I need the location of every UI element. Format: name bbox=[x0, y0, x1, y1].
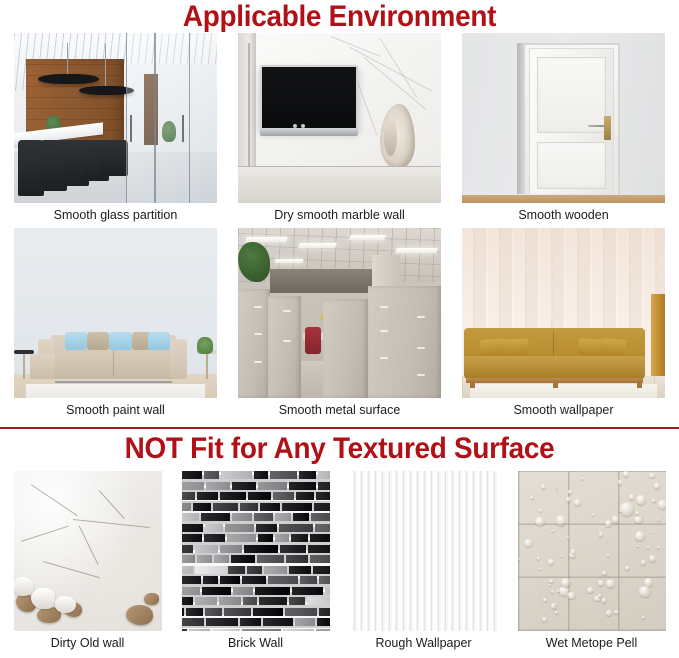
tile-rough-wallpaper: Rough Wallpaper bbox=[350, 471, 498, 656]
tile-caption: Dirty Old wall bbox=[51, 631, 125, 656]
photo-peeling-plaster bbox=[14, 471, 162, 631]
tile-dirty-old-wall: Dirty Old wall bbox=[14, 471, 162, 656]
not-fit-grid: Dirty Old wall Brick Wall Rough Wallpape… bbox=[0, 471, 679, 656]
tile-caption: Smooth wallpaper bbox=[513, 398, 613, 423]
tile-brick-wall: Brick Wall bbox=[182, 471, 330, 656]
photo-striped-wallpaper-sofa bbox=[462, 228, 665, 398]
photo-wet-tiles-droplets bbox=[518, 471, 666, 631]
photo-office-glass-partition bbox=[14, 33, 217, 203]
tile-caption: Smooth metal surface bbox=[279, 398, 401, 423]
tile-smooth-wooden: Smooth wooden bbox=[462, 33, 665, 228]
applicable-grid-row-1: Smooth glass partition Dry smooth marble… bbox=[0, 33, 679, 228]
tile-caption: Smooth paint wall bbox=[66, 398, 165, 423]
tile-smooth-metal-surface: Smooth metal surface bbox=[238, 228, 441, 423]
tile-smooth-wallpaper: Smooth wallpaper bbox=[462, 228, 665, 423]
tile-caption: Smooth glass partition bbox=[54, 203, 178, 228]
tile-dry-smooth-marble-wall: Dry smooth marble wall bbox=[238, 33, 441, 228]
infographic-page: Applicable Environment Smooth glass par bbox=[0, 0, 679, 658]
applicable-grid-row-2: Smooth paint wall bbox=[0, 228, 679, 423]
tile-caption: Wet Metope Pell bbox=[546, 631, 637, 656]
tile-caption: Dry smooth marble wall bbox=[274, 203, 405, 228]
tile-caption: Smooth wooden bbox=[518, 203, 608, 228]
photo-white-wooden-door bbox=[462, 33, 665, 203]
page-title-applicable-environment: Applicable Environment bbox=[24, 0, 655, 33]
photo-marble-wall-tv bbox=[238, 33, 441, 203]
photo-office-metal-cubicles bbox=[238, 228, 441, 398]
tile-caption: Brick Wall bbox=[228, 631, 283, 656]
tile-smooth-glass-partition: Smooth glass partition bbox=[14, 33, 217, 228]
photo-living-room-sofa bbox=[14, 228, 217, 398]
tile-wet-metope-pell: Wet Metope Pell bbox=[518, 471, 666, 656]
tile-caption: Rough Wallpaper bbox=[375, 631, 471, 656]
page-title-not-fit: NOT Fit for Any Textured Surface bbox=[24, 429, 655, 465]
photo-dark-brick bbox=[182, 471, 330, 631]
photo-vertical-ribbed bbox=[350, 471, 498, 631]
tile-smooth-paint-wall: Smooth paint wall bbox=[14, 228, 217, 423]
